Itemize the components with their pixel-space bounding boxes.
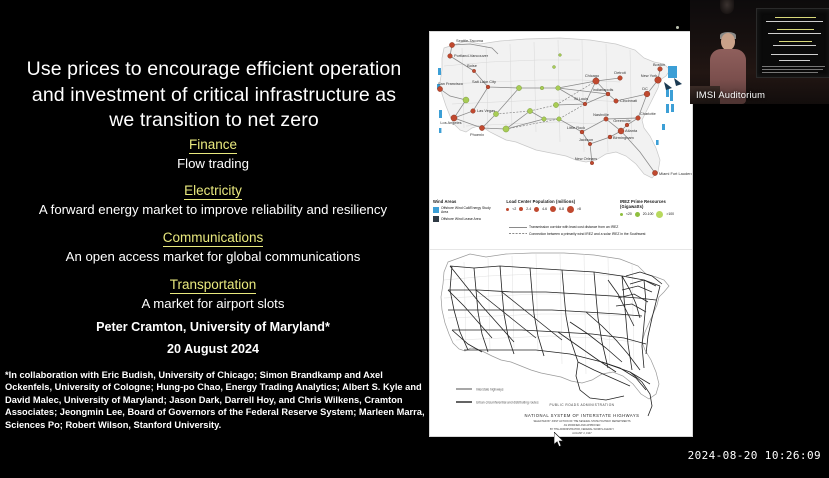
load-dot-icon <box>506 208 509 211</box>
city-label: Greenville <box>613 118 631 123</box>
highway-map-subtitle: AUGUST 2, 1947 <box>572 432 592 435</box>
legend-wind-label: Offshore Wind Lease Area <box>441 217 481 222</box>
legend-irez-scale: <20 20-100 >100 <box>620 211 689 218</box>
room-label: IMSI Auditorium <box>696 89 765 100</box>
city-label: Detroit <box>614 70 626 75</box>
slide-image-panel: Seattle-Tacoma Portland-Vancouver Boise … <box>429 31 693 437</box>
irez-dot-icon <box>656 211 663 218</box>
author-byline: Peter Cramton, University of Maryland* <box>0 320 426 334</box>
city-label: DC <box>642 86 648 91</box>
presentation-date: 20 August 2024 <box>0 342 426 356</box>
section-transportation-heading: Transportation <box>170 276 257 294</box>
screen-recording-frame: Use prices to encourage efficient operat… <box>0 0 829 478</box>
solid-line-icon <box>509 226 527 229</box>
city-label: Atlanta <box>625 128 638 133</box>
section-transportation: Transportation A market for airport slot… <box>0 276 426 312</box>
city-label: Cincinnati <box>620 98 637 103</box>
section-communications-subtitle: An open access market for global communi… <box>0 249 426 265</box>
city-label: Boise <box>467 63 477 68</box>
city-label: Seattle-Tacoma <box>456 38 484 43</box>
legend-line-label: Connection between a primarily wind IREZ… <box>529 232 645 237</box>
city-label: Little Rock <box>567 125 585 130</box>
legend-load-label: 2-4 <box>526 207 531 212</box>
highway-legend-label: Interstate highways <box>476 388 504 392</box>
legend-line-item: Transmission corridor with least cost di… <box>509 225 689 230</box>
city-label: Charlotte <box>640 111 656 116</box>
transmission-map: Seattle-Tacoma Portland-Vancouver Boise … <box>430 32 692 247</box>
legend-line-label: Transmission corridor with least cost di… <box>529 225 618 230</box>
wind-call-area-swatch-icon <box>433 207 439 213</box>
interstate-highway-map: Interstate highways Urban circumferentia… <box>430 249 692 437</box>
legend-load-label: >8 <box>577 207 581 212</box>
section-finance-heading: Finance <box>189 136 237 154</box>
collaborators-footnote: *In collaboration with Eric Budish, Univ… <box>5 369 425 431</box>
legend-irez-label: 20-100 <box>643 212 654 217</box>
legend-irez-title: IREZ Prime Resources (Gigawatts) <box>620 199 689 209</box>
section-finance-subtitle: Flow trading <box>0 156 426 172</box>
city-label: Birmingham <box>613 135 634 140</box>
city-label: Portland-Vancouver <box>454 53 489 58</box>
wind-lease-area-swatch-icon <box>433 216 439 222</box>
city-label: San Francisco <box>438 81 463 86</box>
legend-irez-label: <20 <box>626 212 632 217</box>
city-label: Jackson <box>579 137 593 142</box>
city-label: Indianapolis <box>593 87 614 92</box>
section-electricity-heading: Electricity <box>184 182 242 200</box>
legend-wind-title: Wind Areas <box>433 199 492 204</box>
legend-wind-item: Offshore Wind Call/Energy Study Area <box>433 206 492 215</box>
load-dot-icon <box>519 207 523 211</box>
mouse-cursor-icon <box>554 432 565 448</box>
legend-wind-label: Offshore Wind Call/Energy Study Area <box>441 206 492 215</box>
legend-load-title: Load Center Population (millions) <box>506 199 606 204</box>
highway-map-subtitle: BY THE ADMINISTRATOR, FEDERAL WORKS AGEN… <box>550 428 614 431</box>
city-label: New Orleans <box>575 156 598 161</box>
highway-map-subtitle: SELECTED BY JOINT ACTION OF THE SEVERAL … <box>533 420 630 423</box>
agency-label: PUBLIC ROADS ADMINISTRATION <box>550 403 615 407</box>
highway-map-subtitle: AS MODIFIED AND APPROVED <box>564 424 601 427</box>
city-label: Salt Lake City <box>472 79 496 84</box>
status-indicator-dot-icon <box>676 26 679 29</box>
city-label: Las Vegas <box>477 108 495 113</box>
legend-load-label: 6-8 <box>559 207 564 212</box>
legend-load-label: 4-6 <box>542 207 547 212</box>
city-label: New York <box>641 73 657 78</box>
section-electricity-subtitle: A forward energy market to improve relia… <box>0 202 426 218</box>
city-label: Chicago <box>585 73 599 78</box>
slide-text-column: Use prices to encourage efficient operat… <box>0 0 426 478</box>
city-label: Los Angeles <box>440 120 461 125</box>
speaker-video-overlay[interactable]: IMSI Auditorium <box>690 0 829 104</box>
section-finance: Finance Flow trading <box>0 136 426 172</box>
legend-load-label: <2 <box>512 207 516 212</box>
irez-dot-icon <box>620 213 623 216</box>
ceiling-light-icon <box>720 0 734 14</box>
irez-dot-icon <box>635 212 640 217</box>
recording-timestamp: 2024-08-20 10:26:09 <box>688 449 821 462</box>
section-transportation-subtitle: A market for airport slots <box>0 296 426 312</box>
load-dot-icon <box>567 206 574 213</box>
highway-legend-label: Urban circumferential and distributing r… <box>476 401 539 405</box>
section-electricity: Electricity A forward energy market to i… <box>0 182 426 218</box>
speaker-head <box>721 33 735 50</box>
legend-wind-item: Offshore Wind Lease Area <box>433 216 492 222</box>
legend-line-item: Connection between a primarily wind IREZ… <box>509 232 689 237</box>
dashed-line-icon <box>509 232 527 235</box>
map-legend: Wind Areas Offshore Wind Call/Energy Stu… <box>433 199 689 247</box>
city-label: Miami Fort Lauderdale <box>659 171 692 176</box>
city-label: Phoenix <box>470 132 484 137</box>
interstate-highway-map-svg: Interstate highways Urban circumferentia… <box>430 250 692 437</box>
city-label: Nashville <box>593 112 609 117</box>
legend-irez-label: >100 <box>666 212 674 217</box>
legend-load-scale: <2 2-4 4-6 6-8 >8 <box>506 206 606 213</box>
page-title: Use prices to encourage efficient operat… <box>18 57 410 134</box>
city-label: St Louis <box>574 96 588 101</box>
load-dot-icon <box>534 207 539 212</box>
load-dot-icon <box>550 206 556 212</box>
section-communications-heading: Communications <box>163 229 264 247</box>
city-label: Boston <box>653 62 665 67</box>
section-communications: Communications An open access market for… <box>0 229 426 265</box>
projected-slide-thumbnail <box>756 8 829 78</box>
highway-map-title: NATIONAL SYSTEM OF INTERSTATE HIGHWAYS <box>525 413 640 418</box>
